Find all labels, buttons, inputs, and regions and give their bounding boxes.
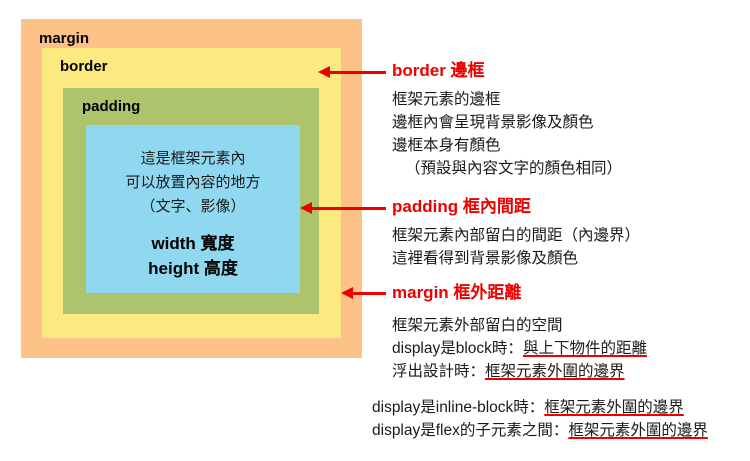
content-width-label: width 寬度 xyxy=(86,231,300,256)
padding-note-2: 這裡看得到背景影像及顏色 xyxy=(392,250,578,267)
border-arrow-icon xyxy=(329,71,386,74)
margin-note-1: 框架元素外部留白的空間 xyxy=(392,317,563,334)
content-height-label: height 高度 xyxy=(86,256,300,281)
padding-arrow-icon xyxy=(311,207,386,210)
border-note-1: 框架元素的邊框 xyxy=(392,91,501,108)
padding-annotation-body: 框架元素內部留白的間距（內邊界） 這裡看得到背景影像及顏色 xyxy=(392,224,640,270)
extra-note-1-prefix: display是inline-block時： xyxy=(372,399,544,416)
margin-note-2-prefix: display是block時： xyxy=(392,340,523,357)
margin-annotation-body: 框架元素外部留白的空間 display是block時：與上下物件的距離 浮出設計… xyxy=(392,314,647,383)
css-box-model-diagram: margin border padding 這是框架元素內 可以放置內容的地方 … xyxy=(21,19,362,358)
margin-annotation-heading: margin 框外距離 xyxy=(392,284,521,301)
margin-note-3-emphasis: 框架元素外圍的邊界 xyxy=(485,363,625,380)
content-line-1: 這是框架元素內 xyxy=(140,150,245,167)
extra-note-2-emphasis: 框架元素外圍的邊界 xyxy=(568,422,708,439)
extra-note-2-prefix: display是flex的子元素之間： xyxy=(372,422,568,439)
extra-annotation-body: display是inline-block時：框架元素外圍的邊界 display是… xyxy=(372,396,708,442)
content-description: 這是框架元素內 可以放置內容的地方 （文字、影像） width 寬度 heigh… xyxy=(86,147,300,281)
margin-label: margin xyxy=(39,31,89,46)
border-note-2: 邊框內會呈現背景影像及顏色 xyxy=(392,114,594,131)
margin-arrow-icon xyxy=(352,292,386,295)
border-label: border xyxy=(60,59,108,74)
padding-annotation-heading: padding 框內間距 xyxy=(392,198,531,215)
content-layer: 這是框架元素內 可以放置內容的地方 （文字、影像） width 寬度 heigh… xyxy=(86,125,300,293)
margin-note-2-emphasis: 與上下物件的距離 xyxy=(523,340,647,357)
border-note-4: （預設與內容文字的顏色相同） xyxy=(392,157,622,180)
extra-note-1-emphasis: 框架元素外圍的邊界 xyxy=(544,399,684,416)
border-annotation-body: 框架元素的邊框 邊框內會呈現背景影像及顏色 邊框本身有顏色 （預設與內容文字的顏… xyxy=(392,88,622,180)
border-note-3: 邊框本身有顏色 xyxy=(392,137,501,154)
content-line-3: （文字、影像） xyxy=(140,198,245,215)
border-annotation-heading: border 邊框 xyxy=(392,62,485,79)
margin-note-3-prefix: 浮出設計時： xyxy=(392,363,485,380)
padding-note-1: 框架元素內部留白的間距（內邊界） xyxy=(392,227,640,244)
content-line-2: 可以放置內容的地方 xyxy=(125,174,260,191)
padding-label: padding xyxy=(82,99,140,114)
